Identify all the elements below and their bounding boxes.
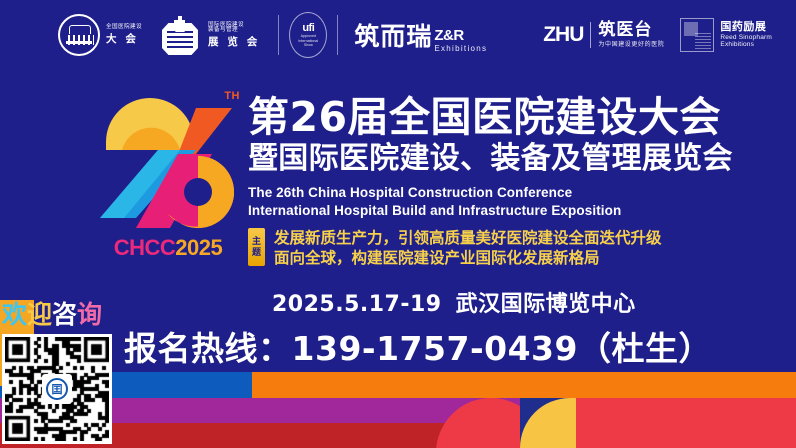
right-logo-group: ZHU 筑医台 为中国建设更好的医院 国药励展 Reed Sinopharm E… — [543, 12, 772, 58]
title-block: 第26届全国医院建设大会 暨国际医院建设、装备及管理展览会 The 26th C… — [248, 96, 778, 219]
date-venue-line: 2025.5.17-19武汉国际博览中心 — [272, 286, 636, 318]
band-orange — [252, 372, 796, 398]
conference-emblem-title: 大 会 — [106, 34, 142, 45]
reed-chinese-name: 国药励展 — [720, 21, 772, 34]
theme-badge-char-1: 主 — [252, 236, 261, 247]
zhu-chinese-name: 筑医台 — [598, 21, 664, 40]
event-date: 2025.5.17-19 — [272, 292, 442, 317]
bottom-color-bands — [0, 362, 796, 448]
ufi-mark: ufi — [302, 22, 314, 34]
zhu-divider — [590, 22, 591, 48]
zhu-tagline: 为中国建设更好的医院 — [598, 42, 664, 49]
chcc-26-graphic-icon — [92, 88, 244, 238]
welcome-char-2: 迎 — [27, 300, 52, 329]
chcc-wordmark-right: 2025 — [175, 235, 222, 260]
zr-english-sub: Exhibitions — [434, 45, 487, 53]
logo-exhibition-text: 国际医院建设 装备与管理 展 览 会 — [208, 23, 260, 48]
logo-chcc-conference-text: 全国医院建设 大 会 — [106, 25, 142, 44]
main-title-english-line-1: The 26th China Hospital Construction Con… — [248, 184, 778, 201]
logo-exhibition-emblem: 国际医院建设 装备与管理 展 览 会 — [158, 13, 260, 57]
theme-text: 发展新质生产力，引领高质量美好医院建设全面迭代升级 面向全球，构建医院建设产业国… — [274, 228, 662, 269]
qr-center-logo: 囯 — [42, 374, 72, 404]
welcome-char-1: 欢 — [2, 300, 27, 329]
zr-chinese-name: 筑而瑞 — [354, 17, 432, 53]
event-venue: 武汉国际博览中心 — [456, 292, 636, 317]
exhibition-emblem-subtitle-2: 装备与管理 — [208, 28, 260, 34]
event-poster: 全国医院建设 大 会 国际医院建设 装备与管理 展 览 会 — [0, 0, 796, 448]
main-title-english-line-2: International Hospital Build and Infrast… — [248, 202, 778, 219]
theme-line-2: 面向全球，构建医院建设产业国际化发展新格局 — [274, 248, 662, 268]
reed-artwork-icon — [680, 18, 714, 52]
qr-code[interactable]: 囯 — [2, 334, 112, 444]
ufi-logo-icon: ufi Approved International Show — [289, 12, 327, 58]
band-bright-red-right — [574, 398, 796, 448]
theme-line-1: 发展新质生产力，引领高质量美好医院建设全面迭代升级 — [274, 228, 662, 248]
qr-center-glyph: 囯 — [46, 378, 68, 400]
header-logo-strip: 全国医院建设 大 会 国际医院建设 装备与管理 展 览 会 — [0, 0, 796, 68]
logo-reed-sinopharm: 国药励展 Reed Sinopharm Exhibitions — [680, 18, 772, 52]
logo-divider — [278, 15, 279, 55]
welcome-char-4: 询 — [77, 300, 102, 329]
logo-divider-2 — [337, 15, 338, 55]
reed-english-line-1: Reed Sinopharm — [720, 34, 772, 41]
chcc-26-logo-mark: TH CHCC2025 — [92, 88, 244, 263]
theme-block: 主 题 发展新质生产力，引领高质量美好医院建设全面迭代升级 面向全球，构建医院建… — [248, 228, 662, 269]
exhibition-emblem-title: 展 览 会 — [208, 37, 260, 48]
conference-emblem-subtitle: 全国医院建设 — [106, 25, 142, 31]
main-title-chinese-line-1: 第26届全国医院建设大会 — [248, 96, 778, 139]
welcome-char-3: 咨 — [52, 300, 77, 329]
zhu-mark: ZHU — [543, 23, 583, 47]
classical-building-circle-icon — [58, 14, 100, 56]
theme-badge-char-2: 题 — [252, 247, 261, 258]
theme-badge: 主 题 — [248, 228, 265, 266]
logo-zr-exhibitions: 筑而瑞 Z&R Exhibitions — [354, 17, 487, 53]
medical-cross-snowflake-icon — [158, 13, 202, 57]
logo-chcc-conference-emblem: 全国医院建设 大 会 — [58, 14, 142, 56]
logo-zhu-platform: ZHU 筑医台 为中国建设更好的医院 — [543, 21, 664, 48]
main-title-chinese-line-2: 暨国际医院建设、装备及管理展览会 — [248, 141, 778, 177]
reed-english-line-2: Exhibitions — [720, 41, 772, 48]
welcome-heading: 欢迎咨询 — [2, 302, 114, 327]
chcc-wordmark-left: CHCC — [114, 235, 176, 260]
ordinal-suffix: TH — [224, 90, 240, 102]
ufi-sub-3: Show — [304, 43, 313, 47]
zr-english-mark: Z&R — [434, 28, 487, 43]
qr-consult-panel[interactable]: 欢迎咨询 囯 — [0, 296, 114, 448]
left-logo-group: 全国医院建设 大 会 国际医院建设 装备与管理 展 览 会 — [58, 10, 487, 60]
chcc-wordmark: CHCC2025 — [92, 235, 244, 261]
